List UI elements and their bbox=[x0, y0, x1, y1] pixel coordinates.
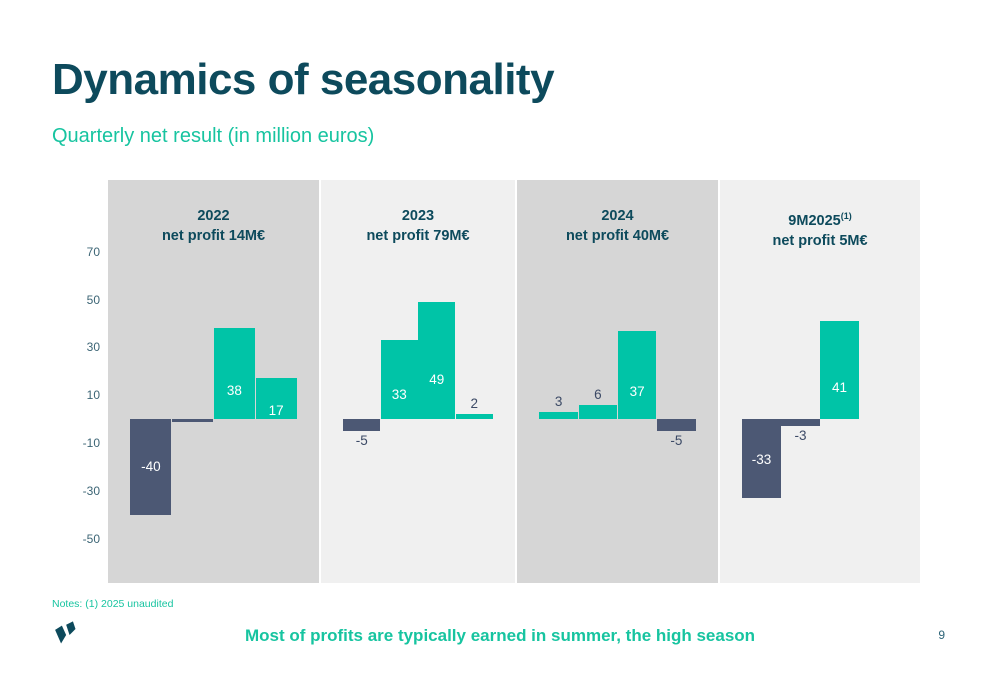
panel-net-profit-label: net profit 79M€ bbox=[321, 226, 515, 246]
bar-2024-q1[interactable] bbox=[539, 412, 577, 419]
bar-value-label: 2 bbox=[470, 396, 478, 411]
bar-value-label: 17 bbox=[269, 403, 284, 418]
bar-value-label: -5 bbox=[670, 433, 682, 448]
bar-value-label: -33 bbox=[752, 452, 772, 467]
bar-value-label: 3 bbox=[555, 394, 563, 409]
bar-value-label: 33 bbox=[392, 387, 407, 402]
bar-2023-q3[interactable] bbox=[418, 302, 455, 419]
bar-value-label: -40 bbox=[141, 459, 161, 474]
y-axis-tick: -50 bbox=[58, 532, 100, 546]
bar-value-label: 38 bbox=[227, 383, 242, 398]
panel-header: 2023net profit 79M€ bbox=[321, 206, 515, 246]
bar-value-label: 49 bbox=[429, 372, 444, 387]
footnote: Notes: (1) 2025 unaudited bbox=[52, 598, 173, 610]
bar-9m2025-q2[interactable] bbox=[781, 419, 819, 426]
panel-net-profit-label: net profit 14M€ bbox=[108, 226, 319, 246]
bar-2024-q2[interactable] bbox=[579, 405, 617, 419]
bar-value-label: 6 bbox=[594, 387, 602, 402]
tagline: Most of profits are typically earned in … bbox=[0, 626, 1000, 646]
panel-year-label: 2024 bbox=[517, 206, 718, 226]
panel-header: 2024net profit 40M€ bbox=[517, 206, 718, 246]
panel-year-label: 9M2025(1) bbox=[720, 206, 920, 231]
y-axis-tick: -30 bbox=[58, 484, 100, 498]
bar-value-label: -3 bbox=[794, 428, 806, 443]
panel-year-label: 2022 bbox=[108, 206, 319, 226]
y-axis-tick: 70 bbox=[58, 245, 100, 259]
bar-9m2025-q3[interactable] bbox=[820, 321, 858, 419]
bar-2022-q2[interactable] bbox=[172, 419, 213, 422]
bar-2024-q4[interactable] bbox=[657, 419, 695, 431]
page-number: 9 bbox=[938, 628, 945, 642]
bar-value-label: 37 bbox=[630, 384, 645, 399]
panel-net-profit-label: net profit 5M€ bbox=[720, 231, 920, 251]
y-axis-tick: -10 bbox=[58, 436, 100, 450]
bar-value-label: -5 bbox=[356, 433, 368, 448]
panel-header: 9M2025(1)net profit 5M€ bbox=[720, 206, 920, 251]
y-axis-tick: 30 bbox=[58, 340, 100, 354]
seasonality-bar-chart: 70503010-10-30-502022net profit 14M€-403… bbox=[0, 0, 1000, 685]
bar-2022-q3[interactable] bbox=[214, 328, 255, 419]
bar-value-label: 41 bbox=[832, 380, 847, 395]
panel-year-superscript: (1) bbox=[841, 211, 852, 221]
panel-year-label: 2023 bbox=[321, 206, 515, 226]
y-axis-tick: 50 bbox=[58, 293, 100, 307]
bar-2024-q3[interactable] bbox=[618, 331, 656, 419]
bar-2023-q1[interactable] bbox=[343, 419, 380, 431]
bar-2023-q2[interactable] bbox=[381, 340, 418, 419]
company-logo-icon bbox=[50, 618, 84, 652]
slide-root: Dynamics of seasonality Quarterly net re… bbox=[0, 0, 1000, 685]
y-axis-tick: 10 bbox=[58, 388, 100, 402]
bar-2023-q4[interactable] bbox=[456, 414, 493, 419]
panel-net-profit-label: net profit 40M€ bbox=[517, 226, 718, 246]
panel-header: 2022net profit 14M€ bbox=[108, 206, 319, 246]
